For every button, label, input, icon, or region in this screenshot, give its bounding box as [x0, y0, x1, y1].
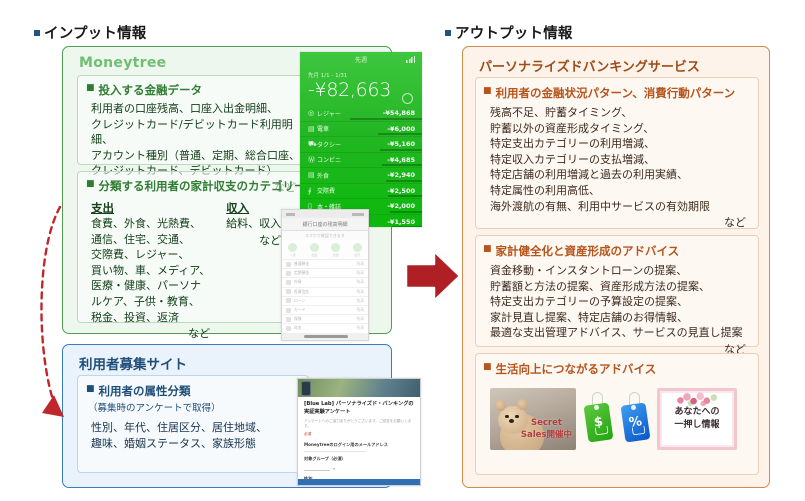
quick-action-icon	[310, 243, 319, 252]
list-status-bar	[282, 210, 368, 218]
flow-arrow-right-icon	[404, 248, 462, 304]
square-bullet-icon: ■	[483, 85, 492, 97]
quick-action-label: 電話	[311, 253, 317, 257]
expense-column: 支出 食費、外食、光熱費、 通信、住宅、交通、 交際費、レジャー、 買い物、車、…	[91, 200, 210, 341]
category-label: 電車	[317, 124, 387, 133]
teddy-eye-icon	[505, 415, 509, 419]
expense-trailer: など	[91, 325, 210, 341]
quick-action-label: 設定	[354, 253, 360, 257]
input-section-title: インプット情報	[44, 22, 146, 43]
quick-action[interactable]: 入金	[282, 240, 304, 259]
category-icon: ▤	[308, 171, 317, 179]
category-bar	[388, 195, 422, 197]
pattern-box: ■ 利用者の金融状況パターン、消費行動パターン 残高不足、貯蓄タイミング、 貯蓄…	[475, 77, 759, 229]
category-box: ■ 分類する利用者の家計収支のカテゴリー 支出 食費、外食、光熱費、 通信、住宅…	[77, 171, 309, 323]
category-amount: -¥2,000	[387, 202, 415, 210]
quick-action[interactable]: 電話	[304, 240, 326, 259]
category-bar	[382, 164, 422, 166]
list-item-value: 残高	[356, 279, 364, 285]
financial-data-body: 利用者の口座残高、口座入出金明細、 クレジットカード/デビットカード利用明細、 …	[91, 101, 308, 179]
bullet-square-icon	[445, 30, 451, 36]
app-category-row[interactable]: ∮交際費-¥2,500	[300, 184, 422, 200]
recommendation-line2: 一押し情報	[674, 419, 719, 432]
survey-input-1[interactable]	[304, 451, 366, 452]
output-panel-title: パーソナライズドバンキングサービス	[479, 56, 700, 75]
lifestyle-box: ■ 生活向上につながるアドバイス Secret Sales開催中	[475, 353, 759, 475]
advice-heading: ■ 家計健全化と資産形成のアドバイス	[483, 243, 758, 259]
output-section-title: アウトプット情報	[455, 22, 573, 43]
survey-hero-image	[298, 379, 420, 397]
category-label: タクシー	[317, 140, 387, 149]
quick-action-icon	[331, 243, 340, 252]
list-item[interactable]: 保険残高	[282, 315, 368, 324]
app-status-title: 先週	[355, 55, 367, 64]
list-item-label: 年金	[294, 325, 302, 331]
category-amount: -¥1,550	[387, 218, 415, 226]
survey-select-box[interactable]	[304, 465, 330, 471]
recruit-panel-title: 利用者募集サイト	[79, 353, 187, 373]
survey-question-2: 対象グループ（必須）	[304, 456, 414, 462]
list-item-value: 残高	[356, 316, 364, 322]
category-label: 交際費	[317, 186, 387, 195]
category-amount: -¥6,000	[387, 125, 415, 133]
shopping-cart-icon	[595, 426, 609, 436]
survey-question-1: Moneytreeのログイン用のメールアドレス	[304, 442, 414, 448]
app-category-row[interactable]: ⛟タクシー-¥5,160	[300, 137, 422, 153]
discount-tag-icon[interactable]: %	[620, 395, 650, 443]
income-column: 収入 給料、収入 など	[226, 200, 281, 341]
list-item-icon	[286, 298, 291, 303]
signal-bars-icon	[406, 56, 415, 63]
list-rows: 普通預金残高定期預金残高外貨残高投資信託残高ローン残高カード残高保険残高年金残高…	[282, 260, 368, 341]
category-amount: -¥4,685	[387, 156, 415, 164]
list-item[interactable]: カード残高	[282, 306, 368, 315]
moneytree-app-screenshot: 先週 先月 1/1 - 1/31 -¥82,663 ◎レジャー-¥54,868▤…	[300, 52, 422, 227]
list-item-value: 残高	[356, 325, 364, 331]
category-label: 外食	[317, 171, 387, 180]
survey-select-2[interactable]: ▾	[304, 465, 414, 471]
attribute-heading: ■ 利用者の属性分類	[86, 383, 308, 399]
category-amount: -¥2,500	[387, 187, 415, 195]
list-item-value: 残高	[356, 261, 364, 267]
survey-option[interactable]: 男性	[304, 485, 414, 486]
secret-sale-line1: Secret	[521, 418, 572, 429]
pattern-trailer: など	[476, 214, 746, 230]
category-bar	[392, 226, 422, 227]
advice-box: ■ 家計健全化と資産形成のアドバイス 資金移動・インスタントローンの提案、 貯蓄…	[475, 235, 759, 347]
list-quick-actions[interactable]: 入金電話送金設定	[282, 240, 368, 260]
category-amount: -¥5,160	[387, 140, 415, 148]
expense-column-body: 食費、外食、光熱費、 通信、住宅、交通、 交際費、レジャー、 買い物、車、メディ…	[91, 216, 210, 325]
tag-hole-icon	[631, 405, 636, 410]
app-period-label: 先月 1/1 - 1/31	[308, 71, 422, 79]
bank-list-app-screenshot: 銀行口座の残高明細 スマホで確認できます 入金電話送金設定 普通預金残高定期預金…	[281, 209, 369, 341]
advice-body: 資金移動・インスタントローンの提案、 貯蓄額と方法の提案、資産形成方法の提案、 …	[490, 263, 758, 341]
survey-option-label: 男性	[311, 485, 319, 486]
list-item[interactable]: ローン残高	[282, 297, 368, 306]
app-status-bar: 先週	[300, 52, 422, 67]
square-bullet-icon: ■	[483, 361, 492, 373]
quick-action-label: 送金	[333, 253, 339, 257]
list-item-icon	[286, 280, 291, 285]
survey-bottom-bar	[298, 479, 420, 485]
list-item-value: 残高	[356, 270, 364, 276]
personalized-banking-panel: パーソナライズドバンキングサービス ■ 利用者の金融状況パターン、消費行動パター…	[462, 46, 770, 488]
survey-form-screenshot: [Blue Lab] パーソナライズド・バンキングの実証実験アンケート アンケー…	[297, 378, 421, 486]
secret-sale-line2: Sales開催中	[521, 430, 572, 441]
category-icon: Ⓦ	[308, 155, 317, 165]
list-item[interactable]: 定期預金残高	[282, 269, 368, 278]
category-bar	[386, 180, 422, 182]
quick-action-label: 入金	[290, 253, 296, 257]
list-item[interactable]: 普通預金残高	[282, 260, 368, 269]
category-icon: ◎	[308, 109, 317, 117]
category-amount: -¥2,940	[387, 171, 415, 179]
chevron-down-icon[interactable]: ▾	[333, 466, 335, 471]
category-icon: ⛟	[308, 140, 317, 149]
input-section-header: インプット情報	[34, 22, 146, 43]
quick-action-icon	[353, 243, 362, 252]
app-category-row[interactable]: Ⓦコンビニ-¥4,685	[300, 153, 422, 169]
pattern-heading: ■ 利用者の金融状況パターン、消費行動パターン	[483, 85, 758, 101]
list-item-label: 普通預金	[294, 261, 309, 267]
list-item-label: 投資信託	[294, 289, 309, 295]
secret-sale-banner[interactable]: Secret Sales開催中	[490, 388, 576, 450]
square-bullet-icon: ■	[86, 178, 95, 190]
teddy-ear-icon	[517, 399, 528, 410]
square-bullet-icon: ■	[483, 243, 492, 255]
list-item-label: 外貨	[294, 279, 302, 285]
list-item-icon	[286, 326, 291, 331]
moneytree-brand-label: Moneytree	[79, 55, 166, 71]
list-item-label: 保険	[294, 316, 302, 322]
category-bar	[350, 118, 422, 120]
list-item-icon	[286, 308, 291, 313]
promo-tiles: Secret Sales開催中 $ %	[490, 388, 737, 450]
money-tag-icon[interactable]: $	[583, 395, 613, 443]
tag-hole-icon	[594, 405, 599, 410]
survey-title: [Blue Lab] パーソナライズド・バンキングの実証実験アンケート	[304, 401, 414, 416]
category-bar	[378, 133, 422, 135]
list-item[interactable]: 投資信託残高	[282, 288, 368, 297]
phone-illustration-icon	[301, 381, 311, 396]
quick-action[interactable]: 設定	[347, 240, 369, 259]
category-bar	[380, 149, 422, 151]
slide-canvas: インプット情報 アウトプット情報 Moneytree ■ 投入する金融データ 利…	[0, 0, 805, 501]
list-item-value: 残高	[356, 307, 364, 313]
square-bullet-icon: ■	[86, 82, 95, 94]
survey-required-note: 必須	[304, 432, 414, 437]
teddy-eye-icon	[515, 415, 519, 419]
lifestyle-heading: ■ 生活向上につながるアドバイス	[483, 361, 758, 377]
survey-meta: アンケートへのご協力ありがとうございます。ご回答をお願いします。	[304, 419, 414, 430]
output-section-header: アウトプット情報	[445, 22, 573, 43]
list-item-label: ローン	[294, 298, 305, 304]
recommendation-card[interactable]: あなたへの 一押し情報	[657, 388, 737, 450]
feedback-dashed-arrow-icon	[30, 195, 76, 435]
category-bar	[390, 211, 422, 213]
shopping-cart-icon	[632, 426, 646, 436]
teddy-nose-icon	[509, 419, 514, 423]
pattern-body: 残高不足、貯蓄タイミング、 貯蓄以外の資産形成タイミング、 特定支出カテゴリーの…	[490, 105, 758, 214]
attribute-subnote: （募集時のアンケートで取得）	[88, 400, 308, 414]
category-icon: ▤	[308, 125, 317, 133]
app-category-row[interactable]: ▤外食-¥2,940	[300, 168, 422, 184]
list-item-icon	[286, 262, 291, 267]
list-item-icon	[286, 271, 291, 276]
category-heading: ■ 分類する利用者の家計収支のカテゴリー	[86, 178, 308, 194]
category-amount: -¥54,868	[383, 109, 415, 117]
teddy-ear-icon	[495, 400, 506, 411]
attribute-body: 性別、年代、住居区分、居住地域、 趣味、婚姻ステータス、家族形態	[91, 420, 308, 451]
flower-decoration-icon	[676, 392, 720, 406]
income-column-body: 給料、収入	[226, 216, 281, 232]
category-icon: ∮	[308, 187, 317, 195]
secret-sale-text: Secret Sales開催中	[521, 418, 572, 441]
category-label: レジャー	[317, 109, 383, 118]
list-item-icon	[286, 289, 291, 294]
list-item-value: 残高	[356, 289, 364, 295]
list-home-indicator	[282, 333, 368, 340]
quick-action-icon	[288, 243, 297, 252]
expense-column-head: 支出	[91, 200, 210, 216]
bullet-square-icon	[34, 30, 40, 36]
list-nav-title: 銀行口座の残高明細	[282, 218, 368, 231]
list-item-label: カード	[294, 307, 305, 313]
financial-data-box: ■ 投入する金融データ 利用者の口座残高、口座入出金明細、 クレジットカード/デ…	[77, 75, 309, 165]
list-sub-title: スマホで確認できます	[282, 231, 368, 240]
app-category-row[interactable]: ▤電車-¥6,000	[300, 122, 422, 138]
list-item[interactable]: 外貨残高	[282, 278, 368, 287]
category-label: コンビニ	[317, 155, 387, 164]
list-item-icon	[286, 317, 291, 322]
income-trailer: など	[226, 232, 281, 248]
income-column-head: 収入	[226, 200, 281, 216]
financial-data-heading: ■ 投入する金融データ	[86, 82, 308, 98]
survey-options[interactable]: 男性女性答えない	[304, 485, 414, 486]
app-menu-circle-icon[interactable]	[402, 93, 413, 104]
app-category-row[interactable]: ◎レジャー-¥54,868	[300, 106, 422, 122]
recommendation-line1: あなたへの	[674, 406, 719, 419]
square-bullet-icon: ■	[86, 383, 95, 395]
quick-action[interactable]: 送金	[325, 240, 347, 259]
list-item-value: 残高	[356, 298, 364, 304]
list-item-label: 定期預金	[294, 270, 309, 276]
attribute-box: ■ 利用者の属性分類 （募集時のアンケートで取得） 性別、年代、住居区分、居住地…	[77, 375, 309, 473]
